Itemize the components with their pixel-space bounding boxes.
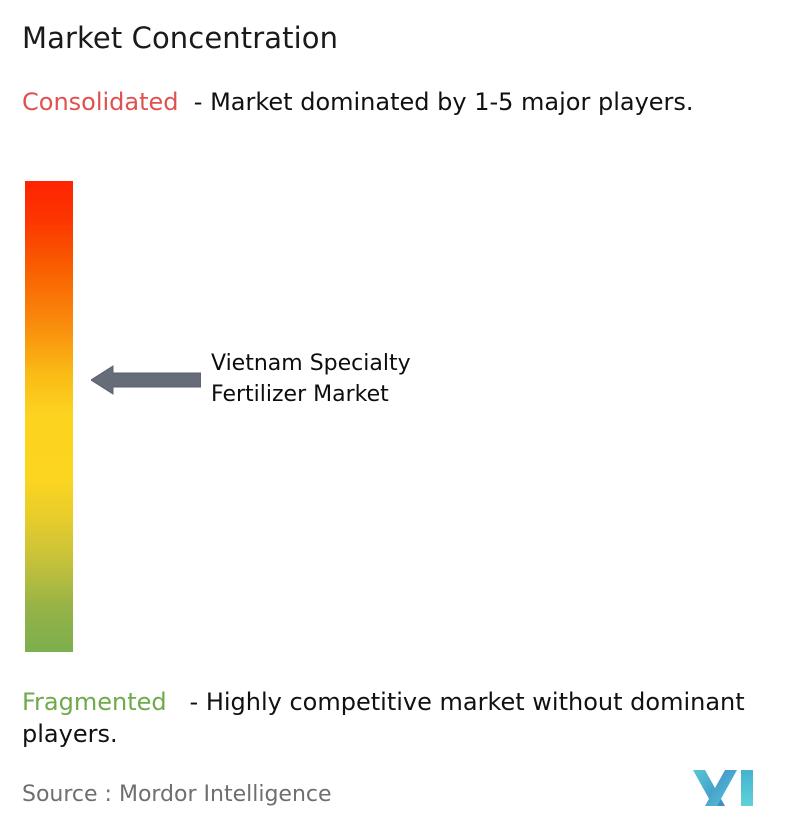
consolidated-caption: Consolidated - Market dominated by 1-5 m… <box>22 86 762 118</box>
consolidated-keyword: Consolidated <box>22 88 179 116</box>
fragmented-keyword: Fragmented <box>22 688 167 716</box>
callout-label: Vietnam Specialty Fertilizer Market <box>211 348 411 410</box>
mordor-intelligence-logo <box>692 768 762 808</box>
pointer-arrow <box>91 364 201 396</box>
fragmented-separator: - <box>167 688 206 716</box>
source-attribution: Source : Mordor Intelligence <box>22 781 332 809</box>
page-title: Market Concentration <box>22 20 338 56</box>
consolidated-separator: - <box>179 88 211 116</box>
consolidated-description: Market dominated by 1-5 major players. <box>210 88 693 116</box>
concentration-gradient-bar <box>25 181 73 652</box>
fragmented-caption: Fragmented - Highly competitive market w… <box>22 686 790 750</box>
